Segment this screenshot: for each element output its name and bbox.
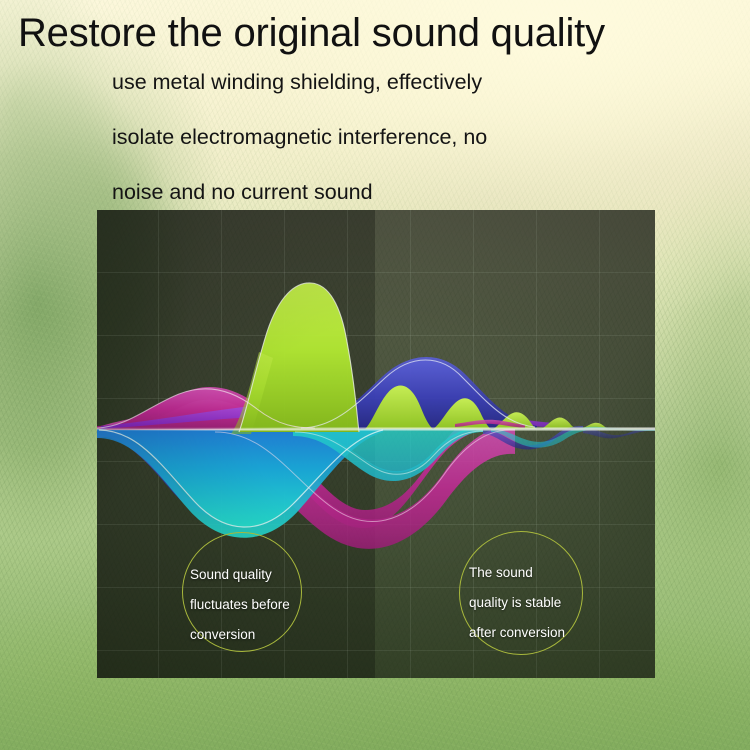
subtitle-line-2: isolate electromagnetic interference, no: [112, 123, 487, 151]
page-title: Restore the original sound quality: [18, 8, 734, 58]
subtitle-line-3: noise and no current sound: [112, 178, 373, 206]
after-conversion-line-3: after conversion: [469, 618, 565, 648]
after-conversion-line-1: The sound: [469, 558, 533, 588]
before-conversion-line-1: Sound quality: [190, 560, 272, 590]
before-conversion-line-2: fluctuates before: [190, 590, 290, 620]
before-conversion-line-3: conversion: [190, 620, 255, 650]
poster-root: Restore the original sound quality use m…: [0, 0, 750, 750]
subtitle-line-1: use metal winding shielding, effectively: [112, 68, 482, 96]
after-conversion-line-2: quality is stable: [469, 588, 561, 618]
